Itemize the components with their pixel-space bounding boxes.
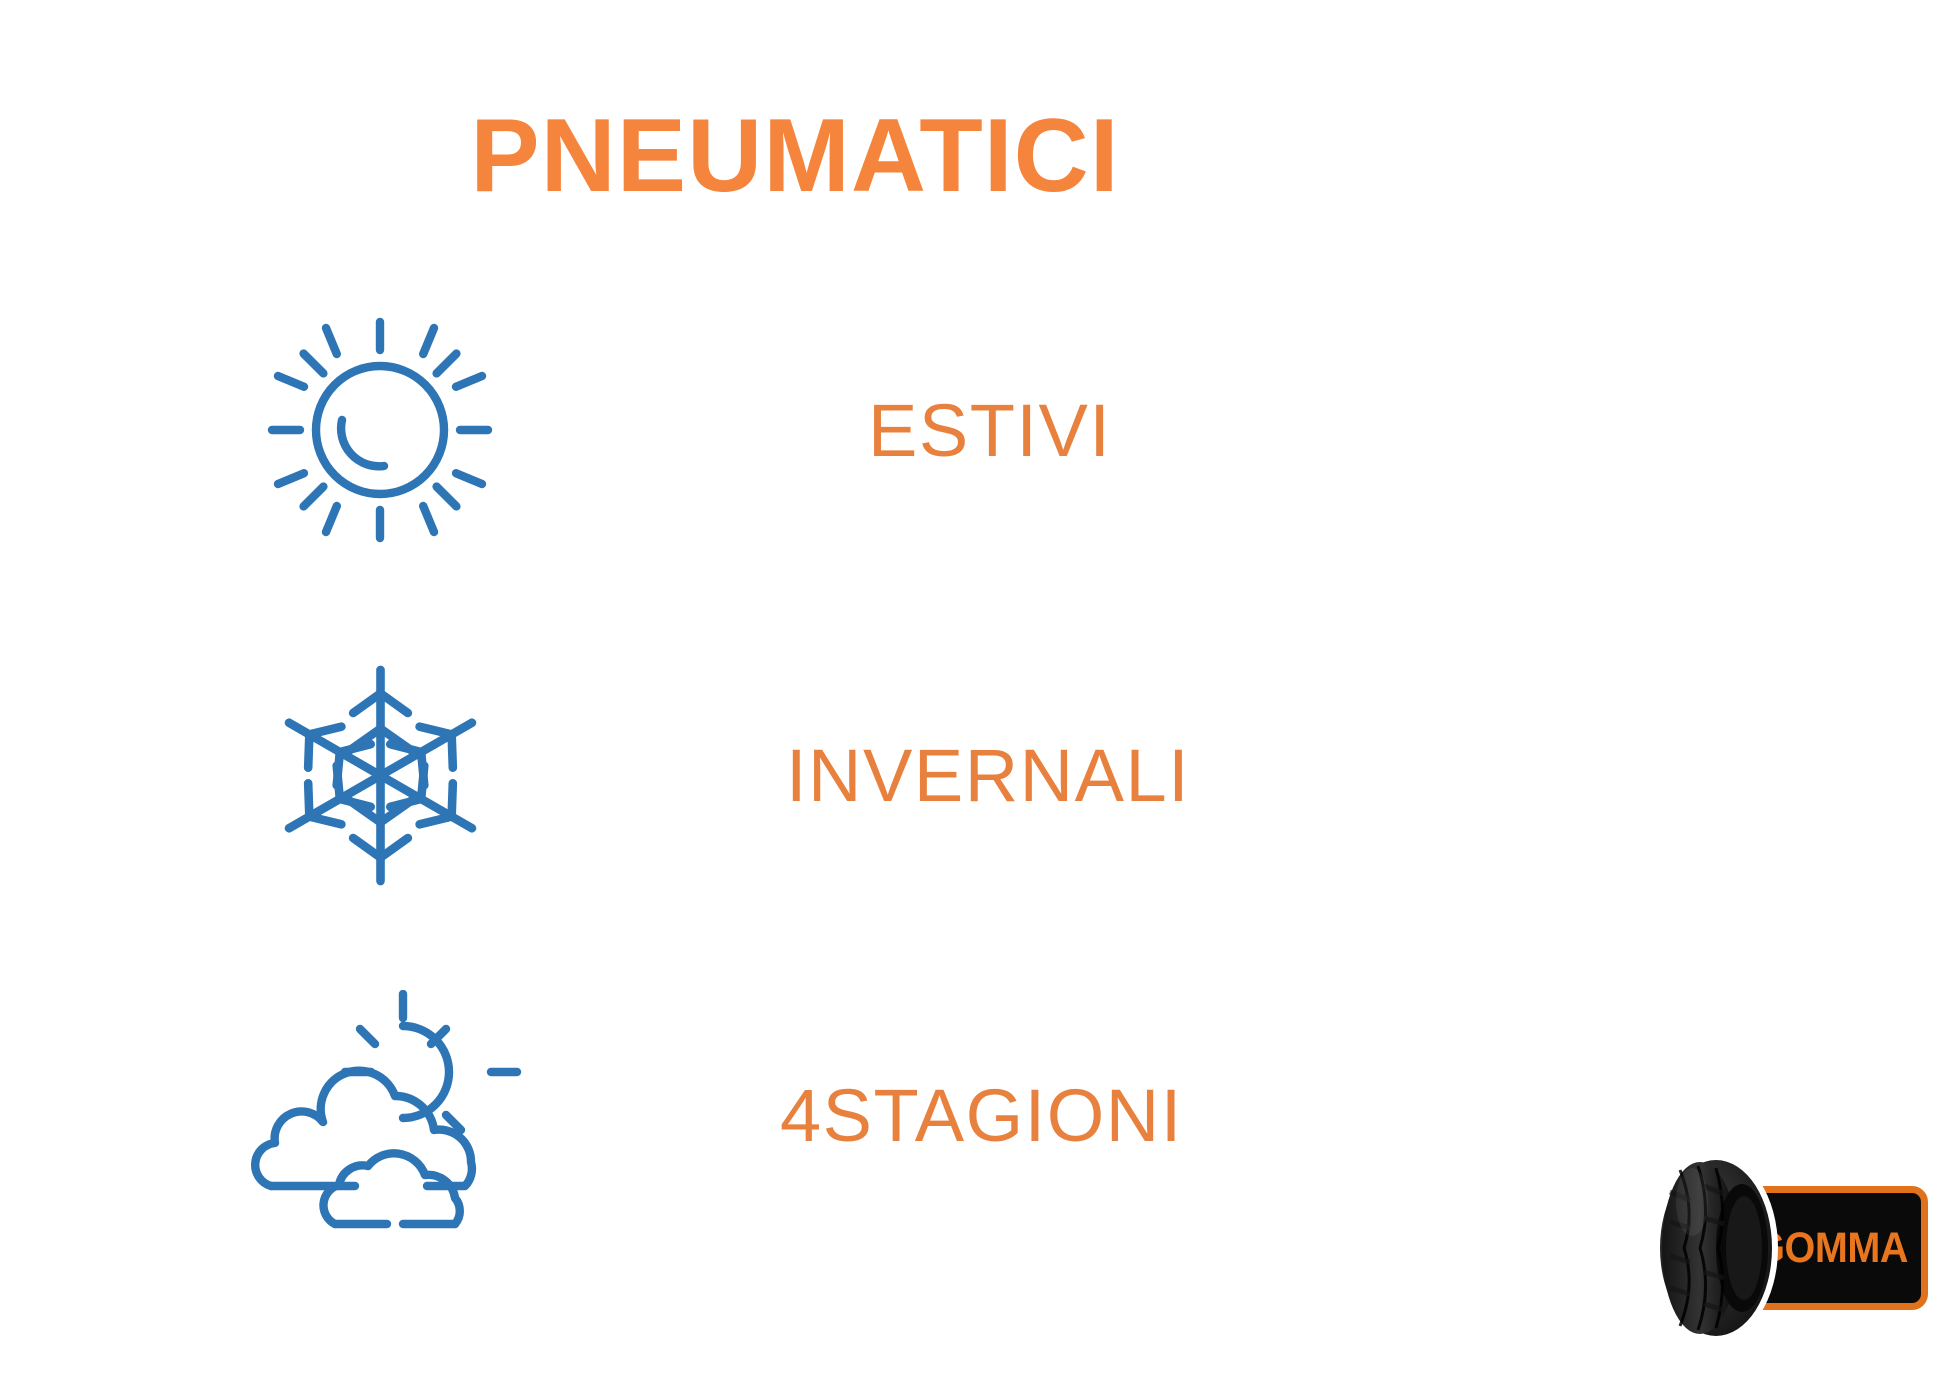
season-label-4stagioni: 4STAGIONI — [780, 965, 1183, 1265]
season-row-estivi: ESTIVI — [0, 280, 1590, 580]
page-title: PNEUMATICI — [0, 104, 1590, 208]
tire-image — [1650, 1152, 1782, 1344]
brand-logo: REGOMMA — [1632, 1148, 1932, 1348]
season-row-invernali: INVERNALI — [0, 625, 1590, 925]
sun-icon — [200, 280, 560, 580]
snowflake-icon — [200, 625, 560, 925]
season-label-invernali: INVERNALI — [786, 625, 1190, 925]
season-label-estivi: ESTIVI — [868, 280, 1111, 580]
season-row-4stagioni: 4STAGIONI — [0, 965, 1590, 1265]
sun-behind-clouds-icon — [200, 965, 560, 1265]
poster-canvas: PNEUMATICI — [0, 0, 1946, 1376]
